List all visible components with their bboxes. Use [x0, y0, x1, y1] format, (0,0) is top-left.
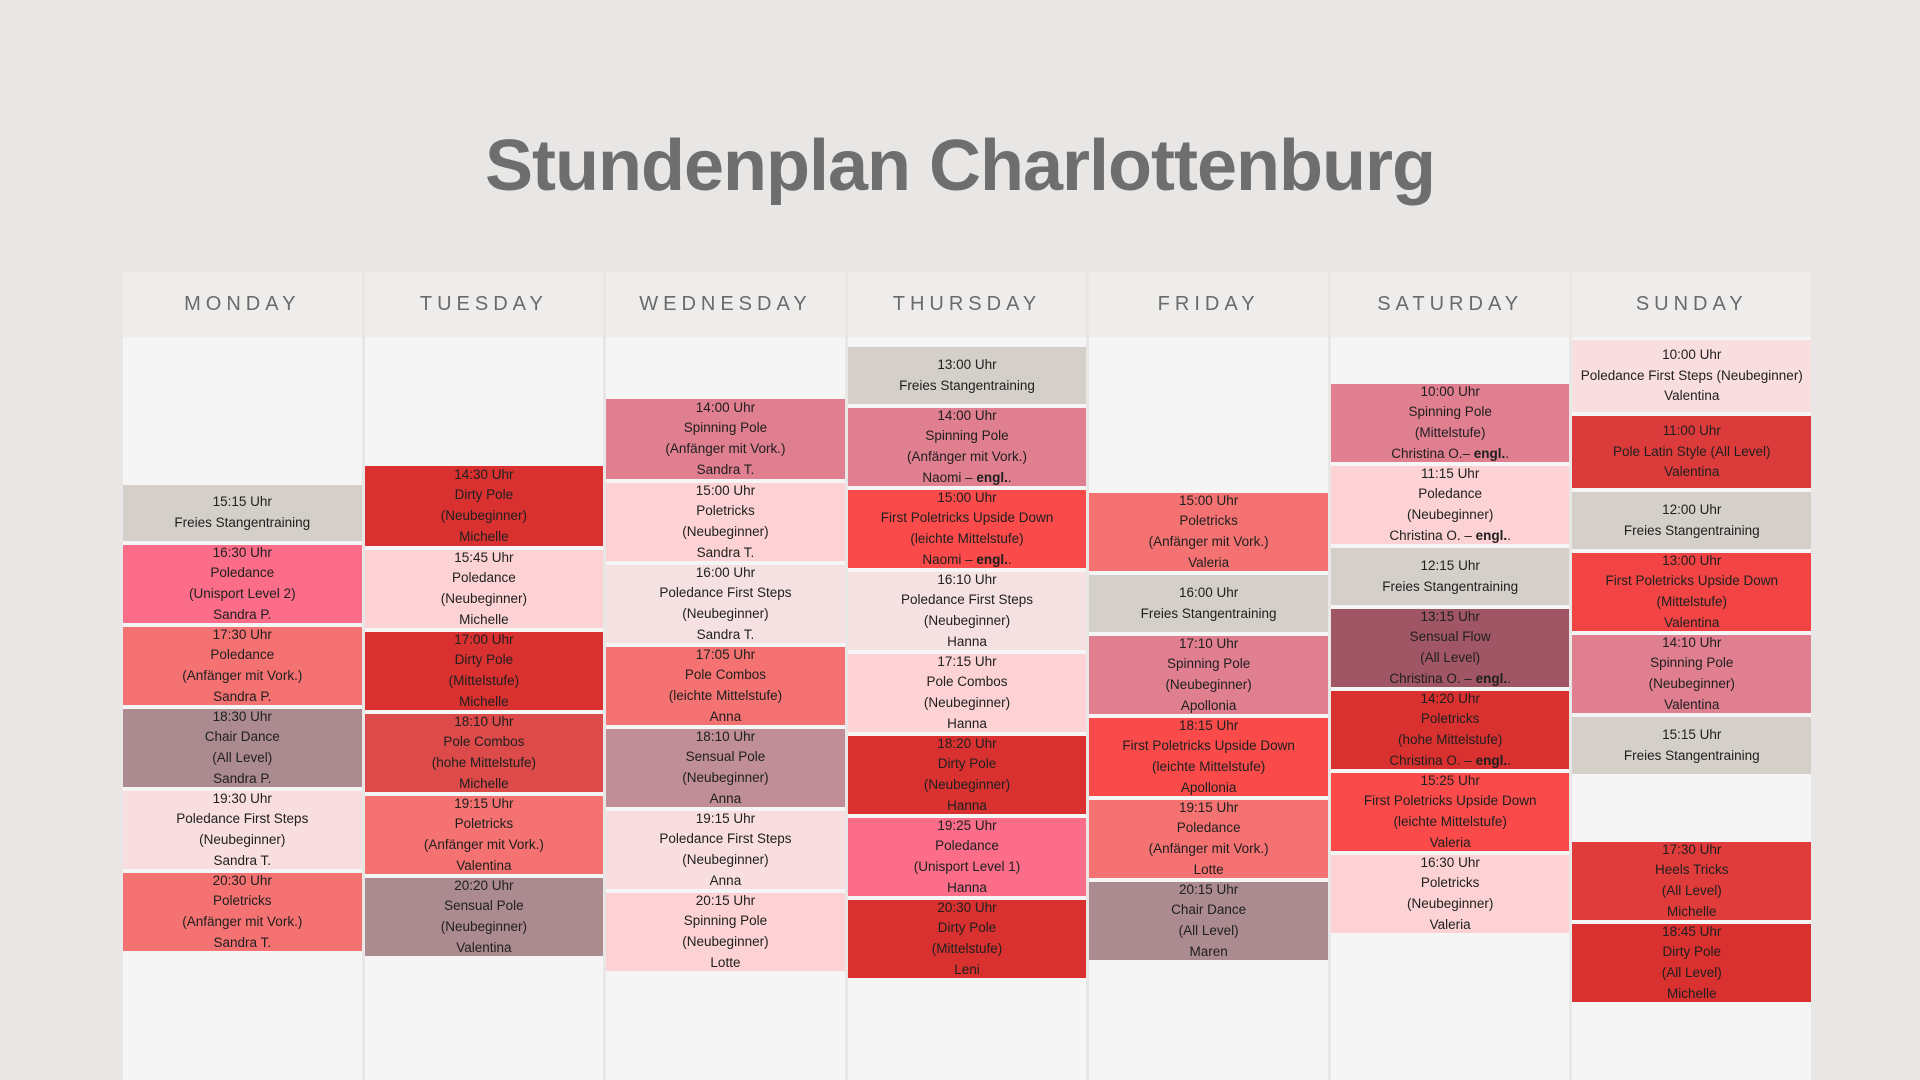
class-level: (hohe Mittelstufe): [1337, 730, 1564, 751]
class-card[interactable]: 17:00 UhrDirty Pole(Mittelstufe)Michelle: [365, 632, 604, 710]
class-instructor: Valentina: [371, 856, 598, 877]
class-name: First Poletricks Upside Down: [854, 508, 1081, 529]
class-time: 12:15 Uhr: [1337, 556, 1564, 577]
class-time: 13:15 Uhr: [1337, 607, 1564, 628]
class-card[interactable]: 16:30 UhrPoletricks(Neubeginner)Valeria: [1331, 855, 1570, 933]
class-time: 20:30 Uhr: [854, 898, 1081, 919]
class-time: 17:30 Uhr: [1578, 840, 1805, 861]
class-time: 10:00 Uhr: [1578, 345, 1805, 366]
class-instructor: Sandra T.: [612, 543, 839, 564]
day-body-saturday: 10:00 UhrSpinning Pole(Mittelstufe)Chris…: [1331, 337, 1570, 1080]
class-name: Dirty Pole: [371, 485, 598, 506]
day-header-friday: FRIDAY: [1089, 272, 1328, 337]
class-level: (Anfänger mit Vork.): [1095, 839, 1322, 860]
class-card[interactable]: 19:15 UhrPoledance First Steps(Neubeginn…: [606, 811, 845, 889]
class-level: (leichte Mittelstufe): [612, 686, 839, 707]
class-name: Pole Combos: [371, 732, 598, 753]
class-instructor: Naomi – engl..: [854, 468, 1081, 489]
day-body-friday: 15:00 UhrPoletricks(Anfänger mit Vork.)V…: [1089, 337, 1328, 1080]
class-card[interactable]: 14:00 UhrSpinning Pole(Anfänger mit Vork…: [848, 408, 1087, 486]
class-instructor: Maren: [1095, 942, 1322, 963]
column-top-spacer: [1331, 337, 1570, 384]
class-time: 13:00 Uhr: [1578, 551, 1805, 572]
class-level: (Anfänger mit Vork.): [612, 439, 839, 460]
class-instructor: Christina O. – engl..: [1337, 526, 1564, 547]
class-time: 18:15 Uhr: [1095, 716, 1322, 737]
class-name: First Poletricks Upside Down: [1337, 791, 1564, 812]
class-name: Spinning Pole: [612, 418, 839, 439]
class-instructor: Sandra T.: [129, 851, 356, 872]
column-top-spacer: [365, 337, 604, 466]
schedule-page: Stundenplan Charlottenburg MONDAY15:15 U…: [0, 0, 1920, 1080]
class-level: (Mittelstufe): [1578, 592, 1805, 613]
day-body-sunday: 10:00 UhrPoledance First Steps (Neubegin…: [1572, 337, 1811, 1080]
class-time: 14:00 Uhr: [612, 398, 839, 419]
class-instructor: Michelle: [371, 692, 598, 713]
class-instructor: Sandra T.: [612, 625, 839, 646]
class-card[interactable]: 15:00 UhrFirst Poletricks Upside Down(le…: [848, 490, 1087, 568]
class-card[interactable]: 16:00 UhrFreies Stangentraining: [1089, 575, 1328, 632]
class-card[interactable]: 13:00 UhrFirst Poletricks Upside Down(Mi…: [1572, 553, 1811, 631]
class-level: (All Level): [1095, 921, 1322, 942]
class-name: Pole Latin Style (All Level): [1578, 442, 1805, 463]
class-name: Heels Tricks: [1578, 860, 1805, 881]
class-card[interactable]: 15:45 UhrPoledance(Neubeginner)Michelle: [365, 550, 604, 628]
class-card[interactable]: 20:30 UhrPoletricks(Anfänger mit Vork.)S…: [123, 873, 362, 951]
class-instructor: Michelle: [371, 774, 598, 795]
class-card[interactable]: 19:25 UhrPoledance(Unisport Level 1)Hann…: [848, 818, 1087, 896]
class-instructor: Sandra P.: [129, 687, 356, 708]
class-name: Poledance First Steps: [612, 829, 839, 850]
class-time: 15:00 Uhr: [612, 481, 839, 502]
class-instructor: Michelle: [1578, 902, 1805, 923]
class-level: (All Level): [1578, 963, 1805, 984]
class-level: (Neubeginner): [612, 850, 839, 871]
language-tag: engl.: [976, 552, 1008, 567]
class-card[interactable]: 16:00 UhrPoledance First Steps(Neubeginn…: [606, 565, 845, 643]
class-name: Poletricks: [612, 501, 839, 522]
class-card[interactable]: 20:15 UhrChair Dance(All Level)Maren: [1089, 882, 1328, 960]
language-tag: engl.: [1474, 446, 1506, 461]
class-level: (Neubeginner): [612, 522, 839, 543]
class-time: 19:30 Uhr: [129, 789, 356, 810]
class-time: 16:00 Uhr: [612, 563, 839, 584]
class-time: 14:20 Uhr: [1337, 689, 1564, 710]
day-body-wednesday: 14:00 UhrSpinning Pole(Anfänger mit Vork…: [606, 337, 845, 1080]
class-instructor: Valeria: [1095, 553, 1322, 574]
class-instructor: Naomi – engl..: [854, 550, 1081, 571]
day-body-thursday: 13:00 UhrFreies Stangentraining14:00 Uhr…: [848, 337, 1087, 1080]
class-time: 15:15 Uhr: [129, 492, 356, 513]
empty-slot: [1572, 778, 1811, 838]
day-column-thursday: THURSDAY13:00 UhrFreies Stangentraining1…: [848, 272, 1087, 1080]
class-card[interactable]: 19:30 UhrPoledance First Steps(Neubeginn…: [123, 791, 362, 869]
day-column-sunday: SUNDAY10:00 UhrPoledance First Steps (Ne…: [1572, 272, 1811, 1080]
class-time: 16:30 Uhr: [129, 543, 356, 564]
class-level: (Anfänger mit Vork.): [854, 447, 1081, 468]
class-level: (All Level): [1578, 881, 1805, 902]
class-level: (Neubeginner): [371, 506, 598, 527]
class-card[interactable]: 13:00 UhrFreies Stangentraining: [848, 347, 1087, 404]
class-card[interactable]: 12:00 UhrFreies Stangentraining: [1572, 492, 1811, 549]
weekly-schedule-grid: MONDAY15:15 UhrFreies Stangentraining16:…: [123, 272, 1811, 1080]
class-level: (Neubeginner): [854, 775, 1081, 796]
class-level: (Neubeginner): [854, 693, 1081, 714]
class-time: 17:30 Uhr: [129, 625, 356, 646]
class-level: (All Level): [129, 748, 356, 769]
class-instructor: Christina O. – engl..: [1337, 751, 1564, 772]
class-level: Valentina: [1578, 386, 1805, 407]
day-column-tuesday: TUESDAY14:30 UhrDirty Pole(Neubeginner)M…: [365, 272, 604, 1080]
day-body-tuesday: 14:30 UhrDirty Pole(Neubeginner)Michelle…: [365, 337, 604, 1080]
class-instructor: Valeria: [1337, 833, 1564, 854]
class-level: (Neubeginner): [1095, 675, 1322, 696]
class-time: 17:00 Uhr: [371, 630, 598, 651]
class-instructor: Christina O. – engl..: [1337, 669, 1564, 690]
class-time: 11:00 Uhr: [1578, 421, 1805, 442]
class-time: 20:20 Uhr: [371, 876, 598, 897]
class-instructor: Apollonia: [1095, 696, 1322, 717]
class-instructor: Michelle: [371, 610, 598, 631]
class-card[interactable]: 15:15 UhrFreies Stangentraining: [123, 485, 362, 541]
day-header-sunday: SUNDAY: [1572, 272, 1811, 337]
class-time: 15:45 Uhr: [371, 548, 598, 569]
class-name: Poledance: [1095, 818, 1322, 839]
class-level: (Neubeginner): [612, 604, 839, 625]
class-instructor: Valeria: [1337, 915, 1564, 936]
page-title: Stundenplan Charlottenburg: [0, 0, 1920, 202]
class-card[interactable]: 17:05 UhrPole Combos(leichte Mittelstufe…: [606, 647, 845, 725]
class-level: Valentina: [1578, 462, 1805, 483]
class-level: (Unisport Level 2): [129, 584, 356, 605]
class-instructor: Anna: [612, 789, 839, 810]
class-card[interactable]: 18:10 UhrPole Combos(hohe Mittelstufe)Mi…: [365, 714, 604, 792]
class-time: 16:30 Uhr: [1337, 853, 1564, 874]
class-level: (Anfänger mit Vork.): [129, 666, 356, 687]
class-level: (Anfänger mit Vork.): [1095, 532, 1322, 553]
class-card[interactable]: 20:20 UhrSensual Pole(Neubeginner)Valent…: [365, 878, 604, 956]
class-level: (All Level): [1337, 648, 1564, 669]
class-card[interactable]: 18:10 UhrSensual Pole(Neubeginner)Anna: [606, 729, 845, 807]
class-name: Freies Stangentraining: [1578, 746, 1805, 767]
class-card[interactable]: 15:15 UhrFreies Stangentraining: [1572, 717, 1811, 774]
day-header-tuesday: TUESDAY: [365, 272, 604, 337]
class-card[interactable]: 18:15 UhrFirst Poletricks Upside Down(le…: [1089, 718, 1328, 796]
class-time: 16:10 Uhr: [854, 570, 1081, 591]
class-name: Pole Combos: [854, 672, 1081, 693]
class-name: Chair Dance: [1095, 900, 1322, 921]
class-name: Poledance: [371, 568, 598, 589]
class-instructor: Sandra P.: [129, 769, 356, 790]
class-card[interactable]: 15:25 UhrFirst Poletricks Upside Down(le…: [1331, 773, 1570, 851]
class-time: 14:00 Uhr: [854, 406, 1081, 427]
class-instructor: Michelle: [1578, 984, 1805, 1005]
language-tag: engl.: [1476, 671, 1508, 686]
class-card[interactable]: 15:00 UhrPoletricks(Anfänger mit Vork.)V…: [1089, 493, 1328, 571]
class-instructor: Sandra P.: [129, 605, 356, 626]
class-time: 10:00 Uhr: [1337, 382, 1564, 403]
day-body-monday: 15:15 UhrFreies Stangentraining16:30 Uhr…: [123, 337, 362, 1080]
class-time: 19:15 Uhr: [1095, 798, 1322, 819]
class-level: (Neubeginner): [1337, 894, 1564, 915]
class-instructor: Valentina: [1578, 695, 1805, 716]
class-level: (leichte Mittelstufe): [1095, 757, 1322, 778]
class-time: 17:10 Uhr: [1095, 634, 1322, 655]
class-time: 18:10 Uhr: [371, 712, 598, 733]
class-instructor: Valentina: [1578, 613, 1805, 634]
class-name: Chair Dance: [129, 727, 356, 748]
class-instructor: Leni: [854, 960, 1081, 981]
class-level: (leichte Mittelstufe): [1337, 812, 1564, 833]
class-time: 14:10 Uhr: [1578, 633, 1805, 654]
class-instructor: Hanna: [854, 878, 1081, 899]
class-name: Sensual Pole: [371, 896, 598, 917]
column-top-spacer: [848, 337, 1087, 347]
class-card[interactable]: 18:20 UhrDirty Pole(Neubeginner)Hanna: [848, 736, 1087, 814]
class-name: Freies Stangentraining: [854, 376, 1081, 397]
class-card[interactable]: 15:00 UhrPoletricks(Neubeginner)Sandra T…: [606, 483, 845, 561]
class-instructor: Sandra T.: [129, 933, 356, 954]
day-header-thursday: THURSDAY: [848, 272, 1087, 337]
class-card[interactable]: 17:15 UhrPole Combos(Neubeginner)Hanna: [848, 654, 1087, 732]
class-time: 20:15 Uhr: [612, 891, 839, 912]
class-card[interactable]: 14:30 UhrDirty Pole(Neubeginner)Michelle: [365, 466, 604, 546]
class-level: (Mittelstufe): [1337, 423, 1564, 444]
class-card[interactable]: 19:15 UhrPoledance(Anfänger mit Vork.)Lo…: [1089, 800, 1328, 878]
class-level: (Anfänger mit Vork.): [129, 912, 356, 933]
class-name: Spinning Pole: [1578, 653, 1805, 674]
class-time: 19:15 Uhr: [371, 794, 598, 815]
class-name: Freies Stangentraining: [129, 513, 356, 534]
class-name: Spinning Pole: [612, 911, 839, 932]
day-column-monday: MONDAY15:15 UhrFreies Stangentraining16:…: [123, 272, 362, 1080]
class-level: (Neubeginner): [371, 589, 598, 610]
class-instructor: Hanna: [854, 796, 1081, 817]
class-card[interactable]: 14:10 UhrSpinning Pole(Neubeginner)Valen…: [1572, 635, 1811, 713]
class-time: 11:15 Uhr: [1337, 464, 1564, 485]
class-card[interactable]: 16:30 UhrPoledance(Unisport Level 2)Sand…: [123, 545, 362, 623]
column-top-spacer: [606, 337, 845, 399]
class-card[interactable]: 18:45 UhrDirty Pole(All Level)Michelle: [1572, 924, 1811, 1002]
class-level: (Mittelstufe): [854, 939, 1081, 960]
class-level: (Neubeginner): [1578, 674, 1805, 695]
class-card[interactable]: 20:30 UhrDirty Pole(Mittelstufe)Leni: [848, 900, 1087, 978]
class-card[interactable]: 17:30 UhrHeels Tricks(All Level)Michelle: [1572, 842, 1811, 920]
language-tag: engl.: [1476, 528, 1508, 543]
class-name: Poledance First Steps: [612, 583, 839, 604]
class-name: Sensual Flow: [1337, 627, 1564, 648]
class-level: (Anfänger mit Vork.): [371, 835, 598, 856]
class-instructor: Christina O.– engl..: [1337, 444, 1564, 465]
class-name: Poledance: [1337, 484, 1564, 505]
class-level: (Neubeginner): [612, 768, 839, 789]
class-level: (leichte Mittelstufe): [854, 529, 1081, 550]
class-name: Dirty Pole: [854, 918, 1081, 939]
class-name: First Poletricks Upside Down: [1095, 736, 1322, 757]
class-card[interactable]: 17:10 UhrSpinning Pole(Neubeginner)Apoll…: [1089, 636, 1328, 714]
class-card[interactable]: 19:15 UhrPoletricks(Anfänger mit Vork.)V…: [365, 796, 604, 874]
class-time: 18:45 Uhr: [1578, 922, 1805, 943]
class-name: Freies Stangentraining: [1578, 521, 1805, 542]
class-name: Poletricks: [1337, 873, 1564, 894]
class-instructor: Lotte: [612, 953, 839, 974]
class-card[interactable]: 10:00 UhrSpinning Pole(Mittelstufe)Chris…: [1331, 384, 1570, 462]
day-column-friday: FRIDAY15:00 UhrPoletricks(Anfänger mit V…: [1089, 272, 1328, 1080]
class-name: Poletricks: [371, 814, 598, 835]
day-column-wednesday: WEDNESDAY14:00 UhrSpinning Pole(Anfänger…: [606, 272, 845, 1080]
class-name: Poledance: [129, 645, 356, 666]
class-level: (Neubeginner): [371, 917, 598, 938]
class-name: Dirty Pole: [1578, 942, 1805, 963]
class-name: Poledance First Steps: [129, 809, 356, 830]
class-time: 20:15 Uhr: [1095, 880, 1322, 901]
class-instructor: Hanna: [854, 714, 1081, 735]
class-instructor: Lotte: [1095, 860, 1322, 881]
class-card[interactable]: 20:15 UhrSpinning Pole(Neubeginner)Lotte: [606, 893, 845, 971]
class-name: Poletricks: [1337, 709, 1564, 730]
class-name: Poledance First Steps: [854, 590, 1081, 611]
class-card[interactable]: 10:00 UhrPoledance First Steps (Neubegin…: [1572, 340, 1811, 412]
class-time: 15:25 Uhr: [1337, 771, 1564, 792]
column-top-spacer: [123, 337, 362, 485]
class-name: Poletricks: [129, 891, 356, 912]
language-tag: engl.: [1476, 753, 1508, 768]
class-time: 17:05 Uhr: [612, 645, 839, 666]
class-instructor: Apollonia: [1095, 778, 1322, 799]
column-top-spacer: [1089, 337, 1328, 493]
class-time: 19:15 Uhr: [612, 809, 839, 830]
class-name: Poledance: [129, 563, 356, 584]
class-time: 14:30 Uhr: [371, 465, 598, 486]
class-instructor: Anna: [612, 871, 839, 892]
class-card[interactable]: 16:10 UhrPoledance First Steps(Neubeginn…: [848, 572, 1087, 650]
day-header-monday: MONDAY: [123, 272, 362, 337]
class-name: Spinning Pole: [854, 426, 1081, 447]
day-header-saturday: SATURDAY: [1331, 272, 1570, 337]
day-header-wednesday: WEDNESDAY: [606, 272, 845, 337]
class-name: Freies Stangentraining: [1337, 577, 1564, 598]
class-name: Poledance First Steps (Neubeginner): [1578, 366, 1805, 387]
class-time: 20:30 Uhr: [129, 871, 356, 892]
class-name: Freies Stangentraining: [1095, 604, 1322, 625]
class-card[interactable]: 11:15 UhrPoledance(Neubeginner)Christina…: [1331, 466, 1570, 544]
class-name: Spinning Pole: [1337, 402, 1564, 423]
class-level: (Unisport Level 1): [854, 857, 1081, 878]
class-name: Spinning Pole: [1095, 654, 1322, 675]
class-instructor: Anna: [612, 707, 839, 728]
class-level: (Neubeginner): [1337, 505, 1564, 526]
class-time: 18:30 Uhr: [129, 707, 356, 728]
class-name: Dirty Pole: [371, 650, 598, 671]
class-instructor: Valentina: [371, 938, 598, 959]
class-card[interactable]: 17:30 UhrPoledance(Anfänger mit Vork.)Sa…: [123, 627, 362, 705]
class-instructor: Sandra T.: [612, 460, 839, 481]
class-time: 12:00 Uhr: [1578, 500, 1805, 521]
class-time: 17:15 Uhr: [854, 652, 1081, 673]
class-time: 18:20 Uhr: [854, 734, 1081, 755]
class-name: Poledance: [854, 836, 1081, 857]
class-level: (hohe Mittelstufe): [371, 753, 598, 774]
language-tag: engl.: [976, 470, 1008, 485]
class-name: First Poletricks Upside Down: [1578, 571, 1805, 592]
class-time: 15:15 Uhr: [1578, 725, 1805, 746]
class-name: Poletricks: [1095, 511, 1322, 532]
class-time: 16:00 Uhr: [1095, 583, 1322, 604]
class-card[interactable]: 12:15 UhrFreies Stangentraining: [1331, 548, 1570, 605]
class-name: Pole Combos: [612, 665, 839, 686]
class-card[interactable]: 18:30 UhrChair Dance(All Level)Sandra P.: [123, 709, 362, 787]
class-instructor: Michelle: [371, 527, 598, 548]
class-level: (Neubeginner): [612, 932, 839, 953]
class-card[interactable]: 14:00 UhrSpinning Pole(Anfänger mit Vork…: [606, 399, 845, 479]
class-time: 18:10 Uhr: [612, 727, 839, 748]
class-instructor: Hanna: [854, 632, 1081, 653]
class-time: 15:00 Uhr: [854, 488, 1081, 509]
class-card[interactable]: 11:00 UhrPole Latin Style (All Level)Val…: [1572, 416, 1811, 488]
class-time: 19:25 Uhr: [854, 816, 1081, 837]
day-column-saturday: SATURDAY10:00 UhrSpinning Pole(Mittelstu…: [1331, 272, 1570, 1080]
class-name: Sensual Pole: [612, 747, 839, 768]
class-time: 13:00 Uhr: [854, 355, 1081, 376]
class-name: Dirty Pole: [854, 754, 1081, 775]
class-card[interactable]: 13:15 UhrSensual Flow(All Level)Christin…: [1331, 609, 1570, 687]
class-card[interactable]: 14:20 UhrPoletricks(hohe Mittelstufe)Chr…: [1331, 691, 1570, 769]
class-level: (Mittelstufe): [371, 671, 598, 692]
class-time: 15:00 Uhr: [1095, 491, 1322, 512]
class-level: (Neubeginner): [854, 611, 1081, 632]
class-level: (Neubeginner): [129, 830, 356, 851]
